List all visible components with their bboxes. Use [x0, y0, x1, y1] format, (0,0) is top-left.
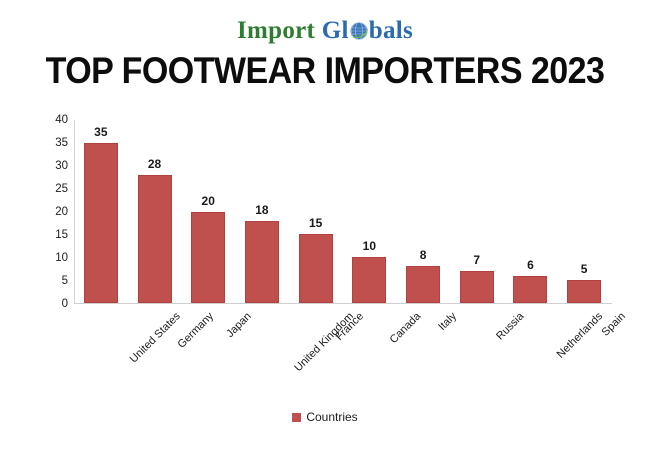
bar-slot: 18 — [235, 120, 289, 303]
x-tick-label: Japan — [225, 311, 254, 340]
y-tick-40: 40 — [34, 115, 68, 127]
bar-slot: 6 — [504, 120, 558, 303]
bar-russia[interactable] — [460, 271, 494, 303]
x-axis-labels: United StatesGermanyJapanUnited KingdomF… — [74, 307, 611, 397]
page-title: TOP FOOTWEAR IMPORTERS 2023 — [26, 52, 624, 91]
brand-logo: Import Gl bals — [0, 18, 650, 43]
bar-canada[interactable] — [352, 257, 386, 303]
bar-series-countries: 3528201815108765 — [74, 120, 611, 303]
bar-italy[interactable] — [406, 266, 440, 303]
x-tick-label: Netherlands — [556, 311, 606, 361]
logo-text-globals-suffix: bals — [369, 17, 413, 44]
chart-legend: Countries — [0, 411, 650, 423]
bar-spain[interactable] — [567, 280, 601, 303]
x-tick-label: United States — [128, 311, 182, 365]
x-tick-label: Canada — [389, 311, 424, 346]
bar-slot: 20 — [181, 120, 235, 303]
y-tick-0: 0 — [34, 299, 68, 311]
bar-value-label: 10 — [363, 240, 376, 252]
logo-text-import: Import — [237, 17, 315, 44]
bar-slot: 15 — [289, 120, 343, 303]
y-tick-30: 30 — [34, 161, 68, 173]
y-tick-5: 5 — [34, 276, 68, 288]
y-axis-labels: 40 35 30 25 20 15 10 5 0 — [28, 108, 68, 318]
bar-value-label: 7 — [473, 254, 480, 266]
bar-value-label: 5 — [581, 263, 588, 275]
bar-slot: 8 — [396, 120, 450, 303]
x-tick-label: Italy — [437, 311, 459, 333]
bar-united-kingdom[interactable] — [245, 221, 279, 303]
y-tick-10: 10 — [34, 253, 68, 265]
legend-label-countries: Countries — [306, 411, 357, 423]
bar-slot: 10 — [343, 120, 397, 303]
y-tick-35: 35 — [34, 138, 68, 150]
y-tick-20: 20 — [34, 207, 68, 219]
logo-text-globals-prefix: Gl — [322, 17, 349, 44]
bar-slot: 35 — [74, 120, 128, 303]
legend-swatch-countries — [292, 413, 301, 422]
bar-japan[interactable] — [191, 212, 225, 304]
bar-value-label: 28 — [148, 158, 161, 170]
bar-value-label: 20 — [202, 195, 215, 207]
bar-value-label: 35 — [94, 126, 107, 138]
bar-value-label: 6 — [527, 259, 534, 271]
y-tick-25: 25 — [34, 184, 68, 196]
bar-slot: 28 — [128, 120, 182, 303]
bar-united-states[interactable] — [84, 143, 118, 303]
x-tick-label: Spain — [600, 311, 628, 339]
bar-value-label: 18 — [255, 204, 268, 216]
bar-slot: 7 — [450, 120, 504, 303]
bar-germany[interactable] — [138, 175, 172, 303]
bar-value-label: 15 — [309, 217, 322, 229]
bar-value-label: 8 — [420, 249, 427, 261]
bar-netherlands[interactable] — [513, 276, 547, 303]
chart-page: Import Gl bals TOP FOOTWEAR IMPORTERS 20… — [0, 0, 650, 450]
bar-france[interactable] — [299, 234, 333, 303]
x-tick-label: Russia — [495, 311, 527, 343]
globe-icon — [349, 21, 369, 41]
y-tick-15: 15 — [34, 230, 68, 242]
x-axis-line — [74, 303, 612, 304]
bar-chart: 40 35 30 25 20 15 10 5 0 352820181510876… — [0, 108, 650, 450]
bar-slot: 5 — [557, 120, 611, 303]
